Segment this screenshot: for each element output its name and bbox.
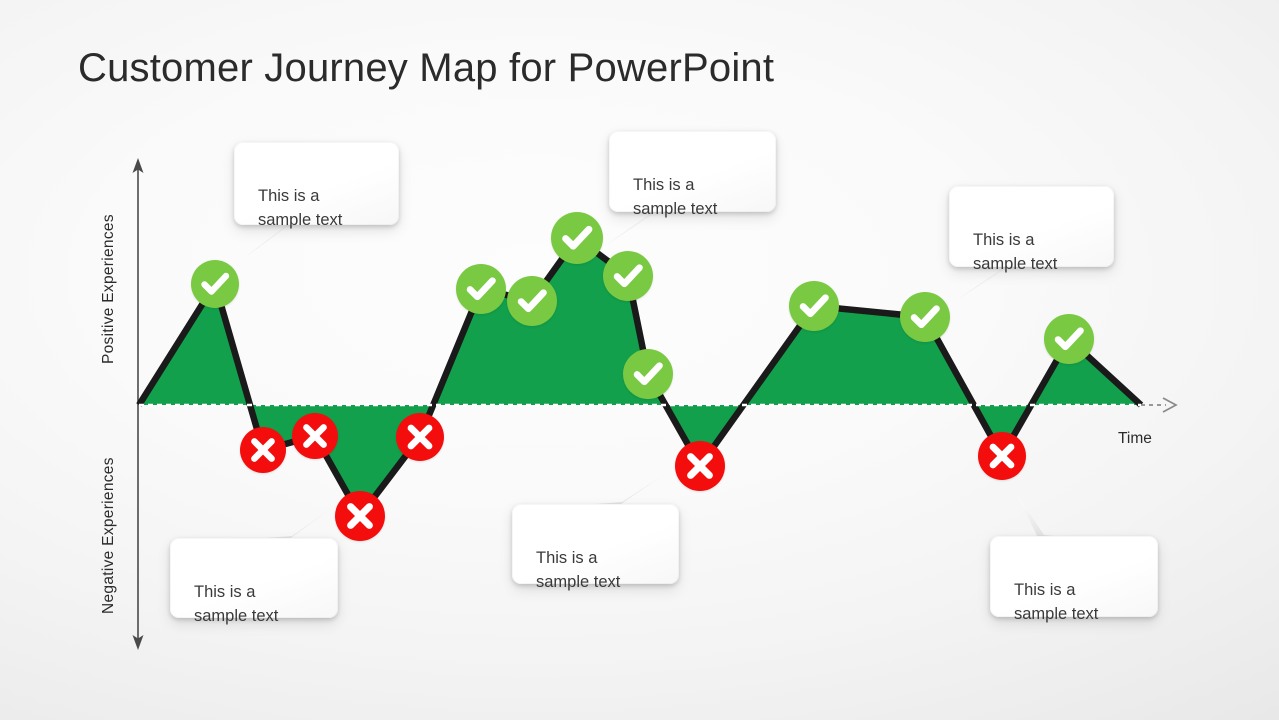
check-icon[interactable] [507,276,557,326]
y-axis-label-positive: Positive Experiences [100,214,118,364]
check-glyph [191,260,239,308]
callout-6-text: This is a sample text [1014,578,1138,626]
check-glyph [456,264,506,314]
check-icon[interactable] [900,292,950,342]
cross-glyph [292,413,338,459]
callout-bubble-3[interactable]: This is a sample text [949,186,1114,267]
check-icon[interactable] [789,281,839,331]
callout-5-text: This is a sample text [536,546,659,594]
check-glyph [900,292,950,342]
check-glyph [623,349,673,399]
cross-icon[interactable] [396,413,444,461]
callout-bubble-1[interactable]: This is a sample text [234,142,399,225]
callout-2-text: This is a sample text [633,173,756,221]
check-icon[interactable] [1044,314,1094,364]
cross-icon[interactable] [240,427,286,473]
y-axis-label-negative: Negative Experiences [100,457,118,614]
check-glyph [1044,314,1094,364]
cross-icon[interactable] [978,432,1026,480]
check-icon[interactable] [603,251,653,301]
callout-3-text: This is a sample text [973,228,1094,276]
check-glyph [789,281,839,331]
callout-1-text: This is a sample text [258,184,379,232]
check-icon[interactable] [551,212,603,264]
check-icon[interactable] [456,264,506,314]
x-axis-arrow [1141,398,1176,412]
callout-4-text: This is a sample text [194,580,318,628]
check-icon[interactable] [191,260,239,308]
x-axis-label-time: Time [1118,430,1152,448]
cross-icon[interactable] [292,413,338,459]
callout-bubble-5[interactable]: This is a sample text [512,504,679,584]
cross-icon[interactable] [675,441,725,491]
cross-glyph [675,441,725,491]
slide-canvas: Customer Journey Map for PowerPoint [0,0,1279,720]
cross-glyph [978,432,1026,480]
cross-glyph [335,491,385,541]
check-icon[interactable] [623,349,673,399]
check-glyph [603,251,653,301]
cross-glyph [396,413,444,461]
cross-glyph [240,427,286,473]
callout-bubble-6[interactable]: This is a sample text [990,536,1158,617]
callout-bubble-2[interactable]: This is a sample text [609,131,776,212]
cross-icon[interactable] [335,491,385,541]
check-glyph [507,276,557,326]
check-glyph [551,212,603,264]
callout-bubble-4[interactable]: This is a sample text [170,538,338,618]
